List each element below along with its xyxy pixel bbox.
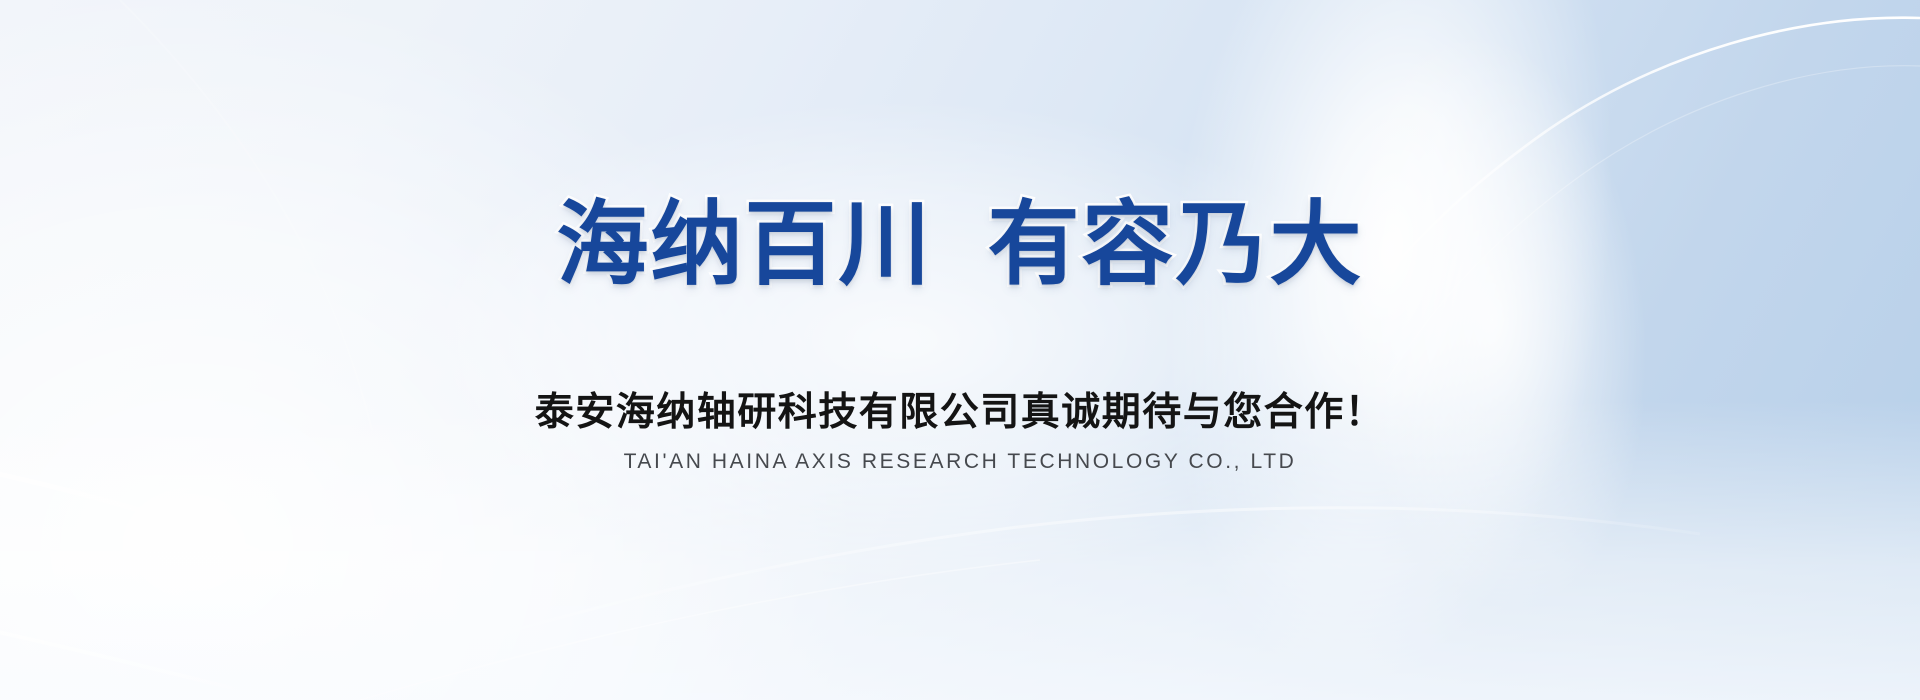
banner-content: 海纳百川 有容乃大 泰安海纳轴研科技有限公司真诚期待与您合作！ TAI'AN H… — [0, 0, 1920, 700]
hero-banner: 海纳百川 有容乃大 泰安海纳轴研科技有限公司真诚期待与您合作！ TAI'AN H… — [0, 0, 1920, 700]
banner-subtitle-english: TAI'AN HAINA AXIS RESEARCH TECHNOLOGY CO… — [0, 446, 1920, 478]
banner-headline: 海纳百川 有容乃大 — [0, 196, 1920, 295]
banner-subtitle-chinese: 泰安海纳轴研科技有限公司真诚期待与您合作！ — [0, 388, 1920, 439]
